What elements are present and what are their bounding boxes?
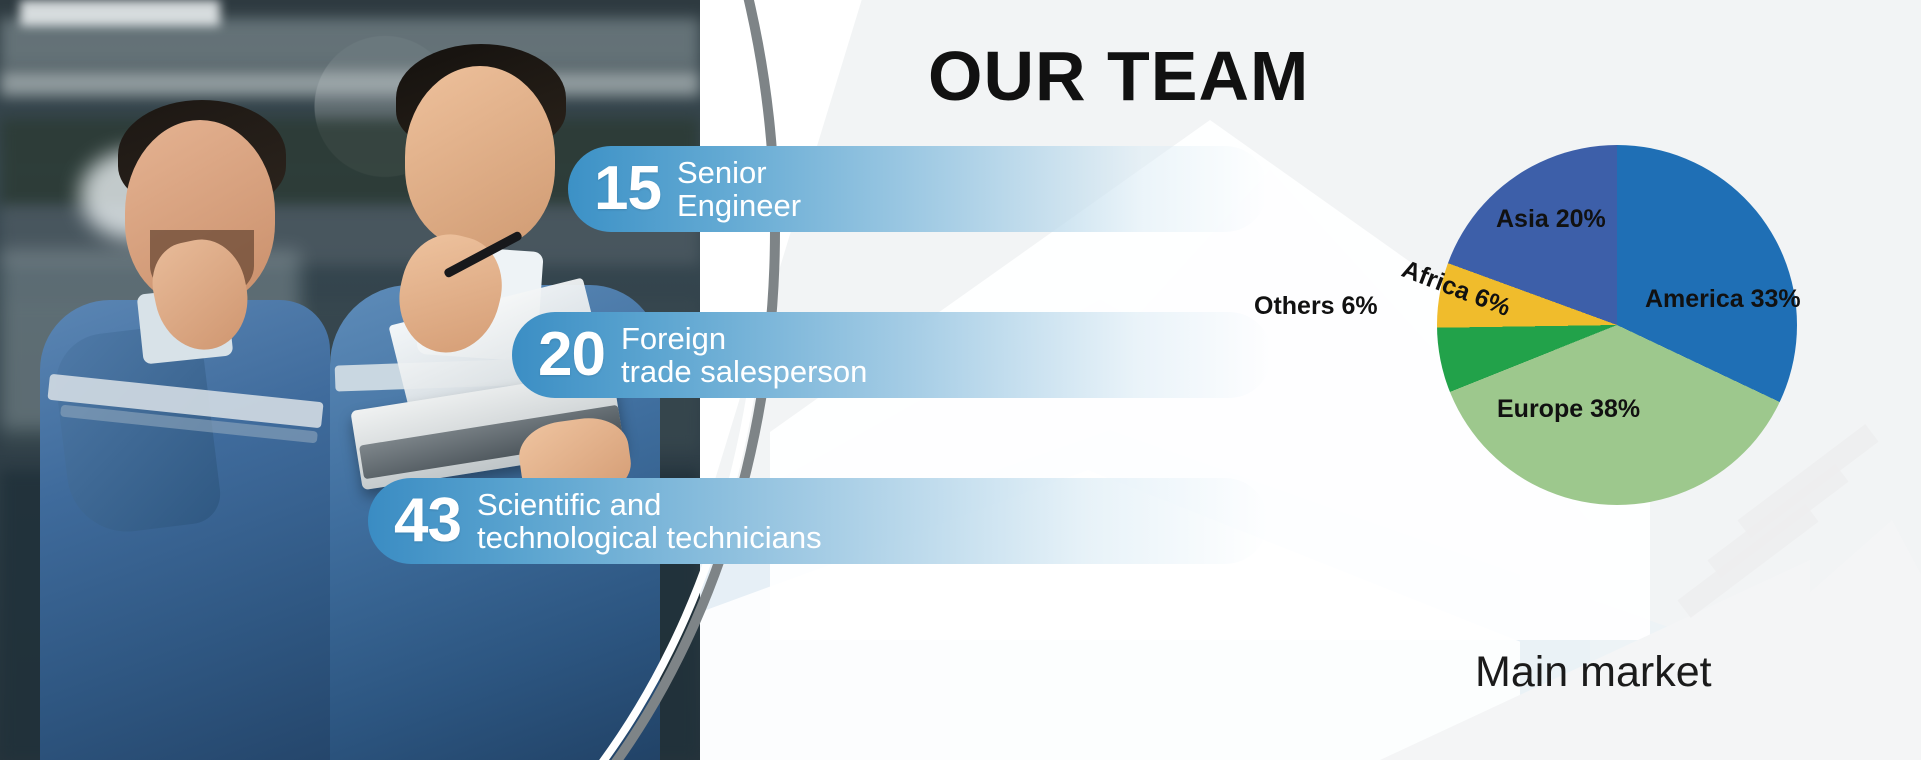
stat-number: 15	[594, 158, 661, 220]
pie-label-europe: Europe 38%	[1497, 395, 1640, 424]
stat-badge-senior-engineer[interactable]: 15 Senior Engineer	[568, 146, 1268, 232]
pie-label-others: Others 6%	[1254, 292, 1378, 321]
pie-slices[interactable]	[1437, 145, 1797, 505]
slide-canvas: OUR TEAM 15 Senior Engineer 20 Foreign t…	[0, 0, 1921, 760]
main-market-pie-chart	[1437, 145, 1797, 505]
stat-badge-foreign-trade-salesperson[interactable]: 20 Foreign trade salesperson	[512, 312, 1272, 398]
pie-label-america: America 33%	[1645, 285, 1801, 314]
stat-label: Senior Engineer	[677, 156, 801, 223]
page-title: OUR TEAM	[928, 36, 1309, 116]
stat-badge-scientific-technological-technicians[interactable]: 43 Scientific and technological technici…	[368, 478, 1268, 564]
pie-label-asia: Asia 20%	[1496, 205, 1606, 234]
stat-label: Scientific and technological technicians	[477, 488, 822, 555]
chart-caption: Main market	[1475, 648, 1712, 697]
stat-number: 43	[394, 490, 461, 552]
stat-number: 20	[538, 324, 605, 386]
stat-label: Foreign trade salesperson	[621, 322, 867, 389]
